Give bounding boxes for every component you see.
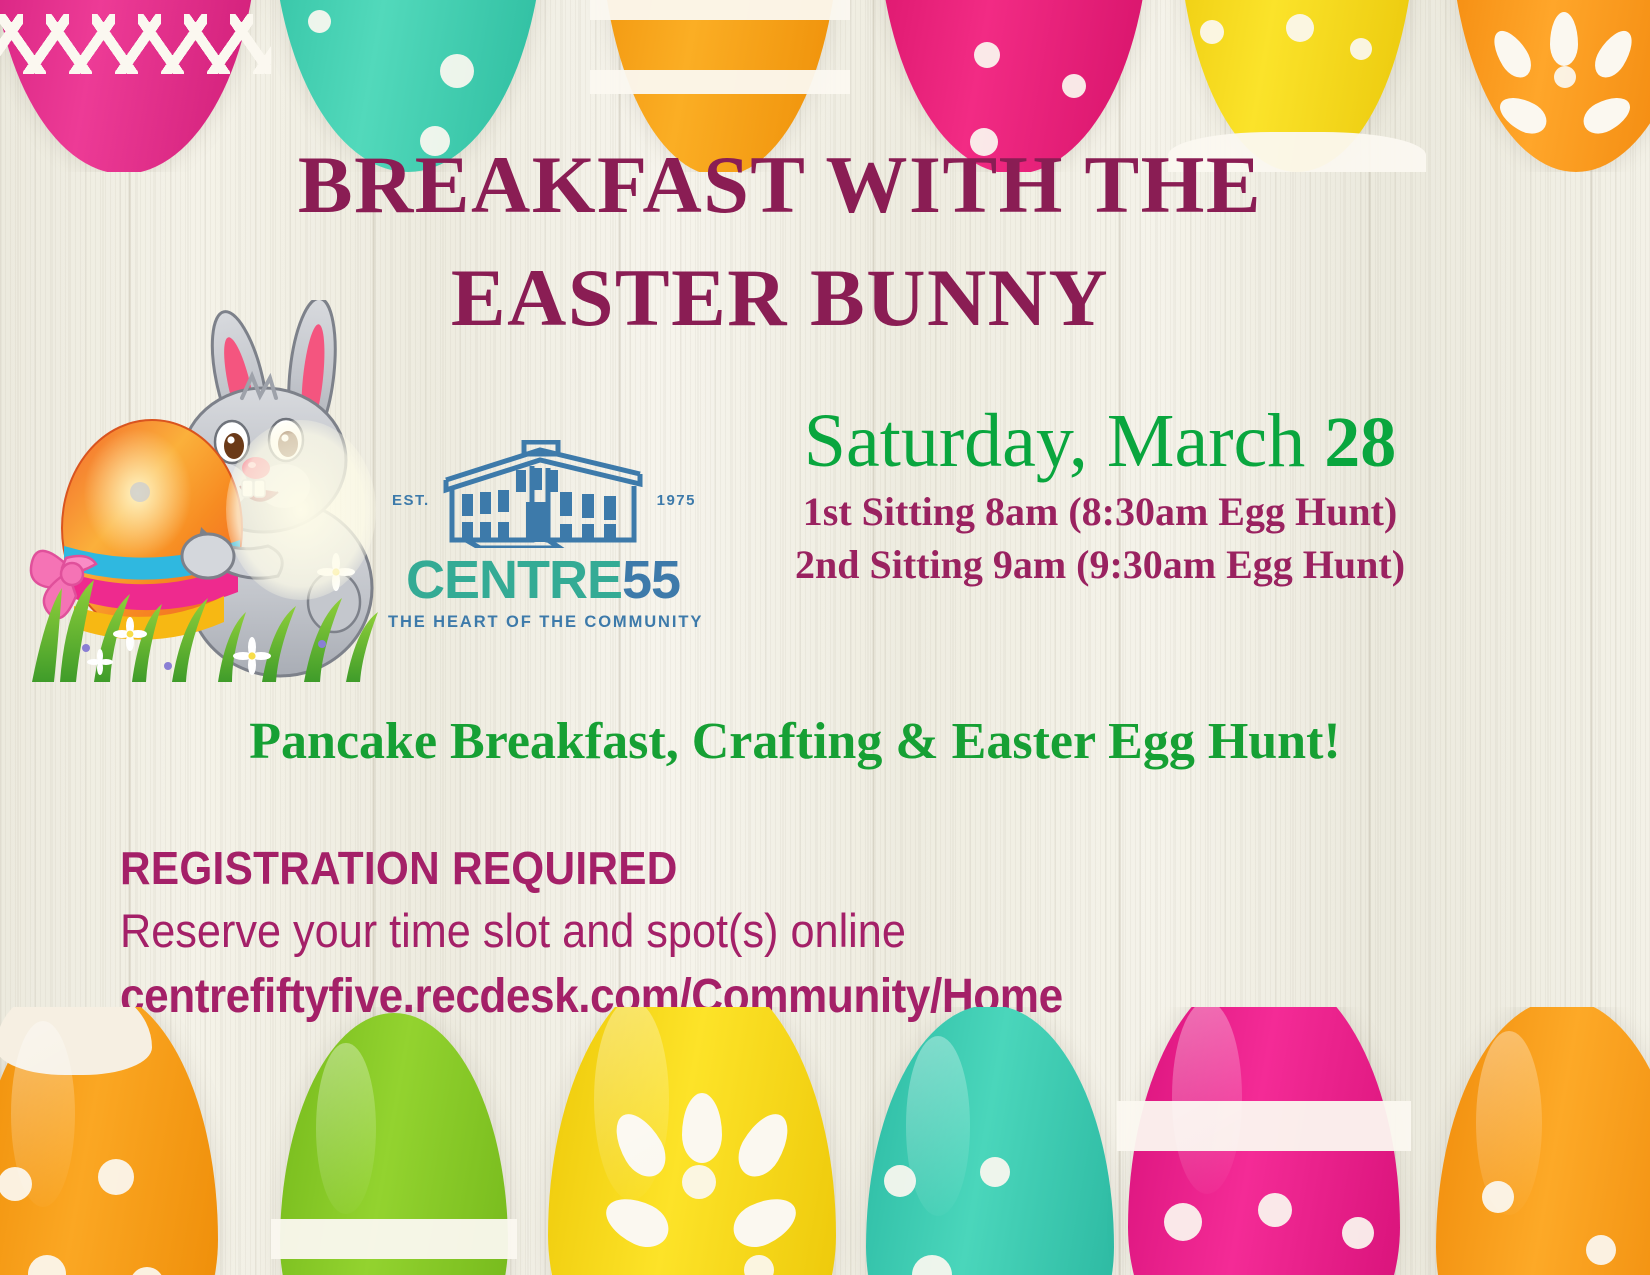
egg-dot — [1258, 1193, 1292, 1227]
egg-dot — [1286, 14, 1314, 42]
flower-petal — [1494, 90, 1552, 140]
egg-dot — [912, 1255, 952, 1275]
egg-dot — [130, 1267, 164, 1275]
egg-orange-dots — [0, 1007, 218, 1275]
small-bud — [318, 640, 326, 648]
event-date-block: Saturday, March 28 1st Sitting 8am (8:30… — [720, 398, 1480, 591]
easter-bunny-icon — [22, 300, 382, 682]
egg-dot — [0, 1167, 32, 1201]
flower-petal — [1486, 25, 1537, 84]
flower-center — [1554, 66, 1576, 88]
flower-petal — [1588, 25, 1639, 84]
decorated-egg — [62, 420, 242, 640]
bottom-egg-border — [0, 1007, 1650, 1275]
egg-dot — [1164, 1203, 1202, 1241]
egg-dot — [884, 1165, 916, 1197]
logo-wordmark-number: 55 — [622, 550, 680, 610]
egg-dot — [308, 10, 331, 33]
egg-green-band — [280, 1013, 508, 1275]
logo-year: 1975 — [657, 492, 696, 509]
egg-dot — [744, 1255, 774, 1275]
building-icon — [436, 440, 650, 548]
flower-petal — [726, 1189, 804, 1256]
small-bud — [164, 662, 172, 670]
flower-petal — [730, 1106, 799, 1185]
egg-dot — [1062, 74, 1086, 98]
egg-dot — [98, 1159, 134, 1195]
egg-gloss — [906, 1036, 970, 1215]
egg-dot — [440, 54, 474, 88]
egg-magenta-band-dots — [1128, 1007, 1400, 1275]
egg-dot — [1342, 1217, 1374, 1249]
event-date: Saturday, March 28 — [720, 398, 1480, 485]
event-day-number: 28 — [1324, 402, 1396, 482]
egg-dot — [1200, 20, 1224, 44]
egg-band — [1117, 1101, 1411, 1151]
egg-dot — [28, 1255, 66, 1275]
egg-gloss — [316, 1043, 375, 1214]
egg-dot — [1482, 1181, 1514, 1213]
egg-stripe — [590, 70, 849, 94]
egg-stripe — [590, 0, 849, 20]
bunny-paw — [182, 534, 234, 578]
flower-petal — [598, 1189, 676, 1256]
sitting-1: 1st Sitting 8am (8:30am Egg Hunt) — [720, 485, 1480, 538]
small-bud — [82, 644, 90, 652]
flower-petal — [606, 1106, 675, 1185]
egg-dot — [980, 1157, 1010, 1187]
flower-petal — [1578, 90, 1636, 140]
event-date-text: Saturday, March — [804, 399, 1325, 483]
egg-teal-dots — [866, 1007, 1114, 1275]
zigzag-pattern — [0, 14, 271, 74]
egg-dot — [1586, 1235, 1616, 1265]
logo-wordmark-main: CENTRE — [406, 550, 622, 610]
registration-subtext: Reserve your time slot and spot(s) onlin… — [120, 898, 1224, 964]
bunny-glow — [226, 420, 376, 600]
egg-orange-plain — [1436, 1007, 1650, 1275]
centre-55-logo[interactable]: EST. 1975 — [388, 440, 698, 632]
flower-petal — [682, 1093, 722, 1163]
activities-line: Pancake Breakfast, Crafting & Easter Egg… — [130, 712, 1460, 771]
easter-event-flyer: BREAKFAST WITH THE EASTER BUNNY — [0, 0, 1650, 1275]
headline-line-1: BREAKFAST WITH THE — [298, 139, 1262, 230]
egg-orange-flower — [1450, 0, 1650, 172]
sitting-2: 2nd Sitting 9am (9:30am Egg Hunt) — [720, 538, 1480, 591]
egg-dot — [974, 42, 1000, 68]
egg-yellow-flower — [548, 1007, 836, 1275]
registration-block: REGISTRATION REQUIRED Reserve your time … — [120, 838, 1320, 1030]
logo-est-label: EST. — [392, 492, 430, 509]
egg-dot — [1350, 38, 1372, 60]
egg-band — [271, 1219, 517, 1259]
flower-petal — [1550, 12, 1578, 66]
egg-cap — [0, 1007, 152, 1075]
logo-wordmark: CENTRE55 — [388, 552, 698, 608]
registration-heading: REGISTRATION REQUIRED — [120, 838, 1224, 898]
logo-tagline: THE HEART OF THE COMMUNITY — [388, 613, 698, 632]
flower-center — [682, 1165, 716, 1199]
